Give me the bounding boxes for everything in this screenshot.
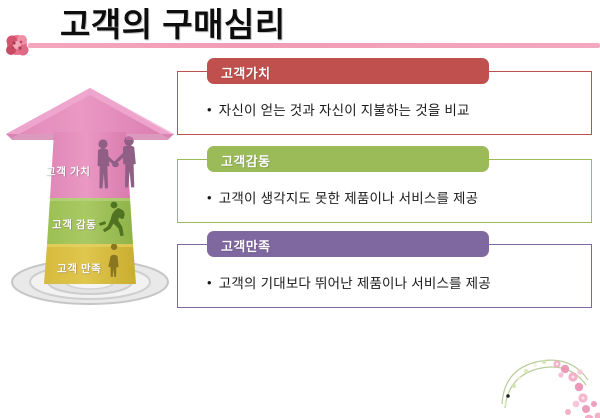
content-block-customer-delight: 고객감동 •고객이 생각지도 못한 제품이나 서비스를 제공 bbox=[177, 146, 592, 210]
content-block-customer-value: 고객가치 •자신이 얻는 것과 자신이 지불하는 것을 비교 bbox=[177, 58, 592, 122]
page-title: 고객의 구매심리 bbox=[60, 0, 286, 46]
title-underline-rule bbox=[28, 43, 600, 48]
bullet-marker-icon: • bbox=[207, 190, 212, 205]
content-block-bullet-text: 고객의 기대보다 뛰어난 제품이나 서비스를 제공 bbox=[219, 276, 491, 291]
content-block-bullet-line: •고객이 생각지도 못한 제품이나 서비스를 제공 bbox=[207, 187, 478, 207]
bullet-marker-icon: • bbox=[207, 275, 212, 290]
content-block-bullet-text: 고객이 생각지도 못한 제품이나 서비스를 제공 bbox=[219, 191, 479, 206]
floral-wreath-icon bbox=[488, 342, 600, 418]
arrow-segment-label-delight: 고객 감동 bbox=[52, 217, 97, 232]
content-block-header-bar: 고객만족 bbox=[207, 231, 489, 257]
flower-cluster-icon bbox=[4, 31, 34, 59]
content-block-header-bar: 고객감동 bbox=[207, 146, 489, 172]
content-block-header-label: 고객만족 bbox=[221, 236, 270, 255]
content-block-header-label: 고객가치 bbox=[221, 63, 270, 82]
content-block-bullet-line: •자신이 얻는 것과 자신이 지불하는 것을 비교 bbox=[207, 99, 470, 119]
arrow-segment-label-satisfaction: 고객 만족 bbox=[57, 261, 102, 276]
content-block-header-bar: 고객가치 bbox=[207, 58, 489, 84]
bullet-marker-icon: • bbox=[207, 102, 212, 117]
slide-canvas: 고객의 구매심리 bbox=[0, 0, 600, 418]
content-block-customer-satisfaction: 고객만족 •고객의 기대보다 뛰어난 제품이나 서비스를 제공 bbox=[177, 231, 592, 295]
content-block-header-label: 고객감동 bbox=[221, 151, 270, 170]
content-block-bullet-line: •고객의 기대보다 뛰어난 제품이나 서비스를 제공 bbox=[207, 272, 491, 292]
content-block-bullet-text: 자신이 얻는 것과 자신이 지불하는 것을 비교 bbox=[219, 103, 470, 118]
arrow-segment-label-value: 고객 가치 bbox=[46, 164, 91, 179]
